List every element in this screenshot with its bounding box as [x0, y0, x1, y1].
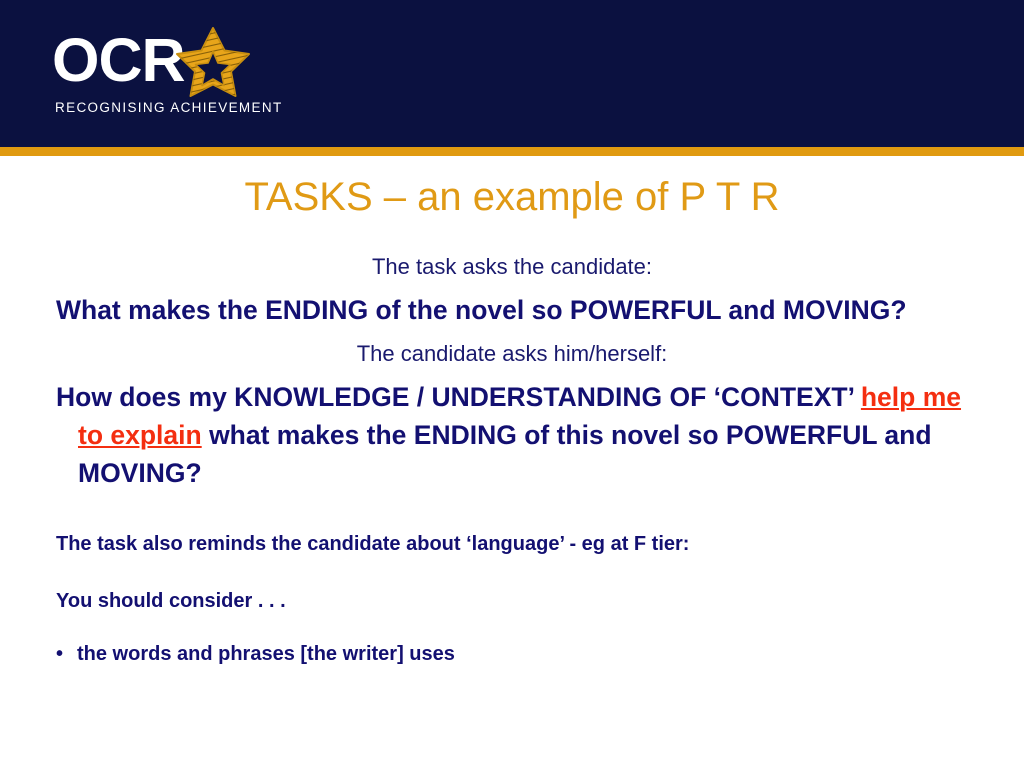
list-item-label: the words and phrases [the writer] uses: [77, 643, 455, 665]
task-question: What makes the ENDING of the novel so PO…: [56, 291, 974, 329]
candidate-question-part-1: How does my KNOWLEDGE / UNDERSTANDING OF…: [56, 382, 861, 412]
header-band: OCR: [0, 0, 1024, 147]
bullet-marker-icon: •: [56, 640, 77, 668]
ocr-tagline: RECOGNISING ACHIEVEMENT: [55, 100, 283, 116]
lead-line-candidate: The candidate asks him/herself:: [0, 339, 1024, 369]
header-gold-rule: [0, 147, 1024, 156]
list-item: •the words and phrases [the writer] uses: [56, 640, 984, 668]
slide-title: TASKS – an example of P T R: [0, 173, 1024, 221]
candidate-question-part-2: what makes the ENDING of this novel so P…: [78, 420, 932, 488]
ocr-logo: OCR: [52, 28, 302, 123]
language-note: The task also reminds the candidate abou…: [56, 530, 984, 558]
candidate-question: How does my KNOWLEDGE / UNDERSTANDING OF…: [56, 378, 974, 492]
lead-line-task: The task asks the candidate:: [0, 252, 1024, 282]
consider-heading: You should consider . . .: [56, 587, 984, 615]
ocr-wordmark: OCR: [52, 28, 185, 92]
slide-body: The task asks the candidate: What makes …: [0, 252, 1024, 668]
star-icon: [174, 25, 252, 101]
